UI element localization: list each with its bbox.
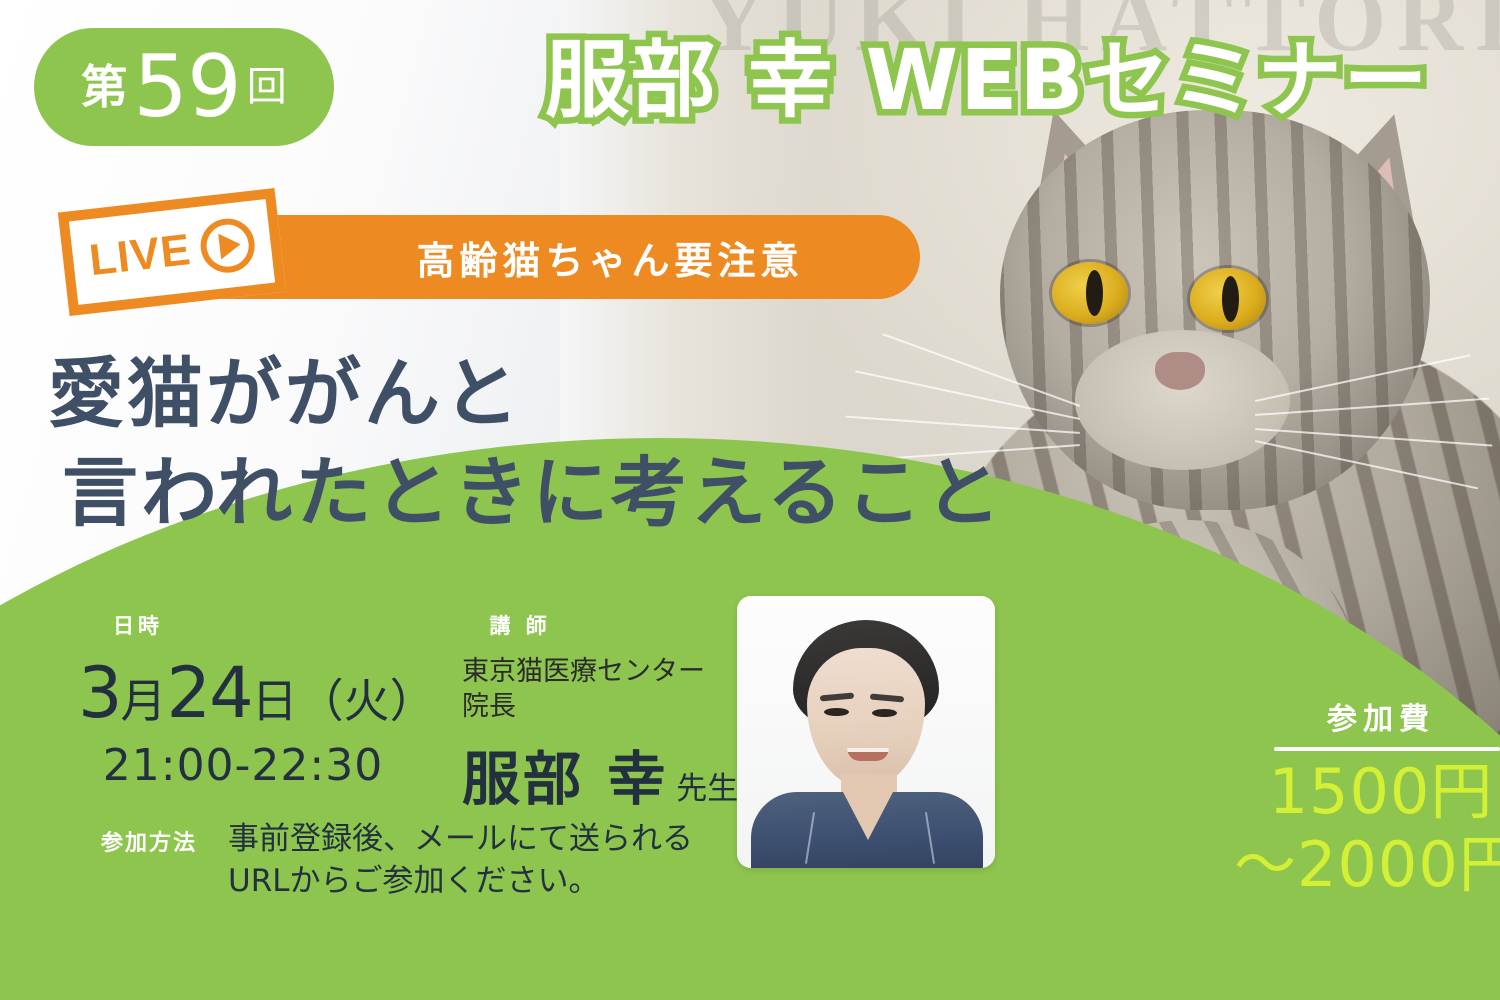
date-month-number: 3 (78, 652, 121, 734)
lecturer-name-row: 服部 幸先生 (462, 732, 762, 816)
page-title-line2: 言われたときに考えること (62, 444, 1004, 543)
lecturer-block: 講 師 東京猫医療センター 院長 服部 幸先生 (462, 608, 762, 816)
lecturer-tag: 講 師 (474, 608, 566, 642)
page-title-line1: 愛猫ががんと (48, 345, 1004, 444)
date-day-unit: 日 (252, 674, 298, 728)
page-title: 愛猫ががんと 言われたときに考えること (48, 345, 1004, 543)
episode-badge: 第 59 回 (34, 28, 334, 146)
price-divider (1274, 747, 1500, 751)
datetime-block: 日時 3月24日（火） 21:00-22:30 (78, 608, 408, 791)
portrait-eye-right (872, 709, 897, 717)
join-method-block: 参加方法 事前登録後、メールにて送られる URLからご参加ください。 (82, 818, 693, 902)
episode-prefix: 第 (81, 64, 127, 110)
price-label: 参加費 (1262, 694, 1500, 738)
lecturer-org-line1: 東京猫医療センター (462, 654, 762, 689)
subtitle-strip: 高齢猫ちゃん要注意 (180, 215, 920, 299)
play-icon (198, 216, 258, 276)
join-method-tag: 参加方法 (82, 822, 216, 860)
lecturer-honorific: 先生 (676, 771, 738, 807)
portrait-mouth (847, 748, 889, 761)
lecturer-name: 服部 幸 (462, 745, 668, 813)
lecturer-portrait (737, 596, 995, 868)
join-method-line2: URLからご参加ください。 (228, 860, 693, 902)
lecturer-org-line2: 院長 (462, 689, 762, 724)
cat-nose (1155, 352, 1205, 390)
lecturer-organization: 東京猫医療センター 院長 (462, 654, 762, 724)
date-day-number: 24 (167, 652, 252, 734)
time-value: 21:00-22:30 (78, 740, 408, 791)
cat-pupil-right (1222, 276, 1239, 322)
seminar-title: 服部 幸 WEBセミナー (545, 38, 1430, 122)
play-triangle (218, 231, 242, 259)
price-value-line1: 1500円 (1262, 755, 1500, 828)
date-month-unit: 月 (121, 674, 167, 728)
portrait-eye-left (824, 708, 849, 716)
join-method-line1: 事前登録後、メールにて送られる (228, 818, 693, 860)
price-block: 参加費 1500円 ～2000円 (1262, 694, 1500, 901)
episode-suffix: 回 (247, 67, 287, 107)
episode-number: 59 (133, 44, 240, 130)
datetime-tag: 日時 (92, 608, 184, 642)
banner-root: YUKI HATTORI 第 59 回 服部 幸 WEBセミナー 高齢猫ちゃん要… (0, 0, 1500, 1000)
live-label: LIVE (87, 225, 194, 286)
join-method-text: 事前登録後、メールにて送られる URLからご参加ください。 (228, 818, 693, 902)
date-value: 3月24日（火） (78, 652, 408, 734)
date-weekday: （火） (298, 674, 436, 728)
price-value-line2: ～2000円 (1234, 828, 1500, 901)
subtitle-strip-label: 高齢猫ちゃん要注意 (416, 230, 803, 285)
cat-pupil-left (1086, 270, 1103, 316)
